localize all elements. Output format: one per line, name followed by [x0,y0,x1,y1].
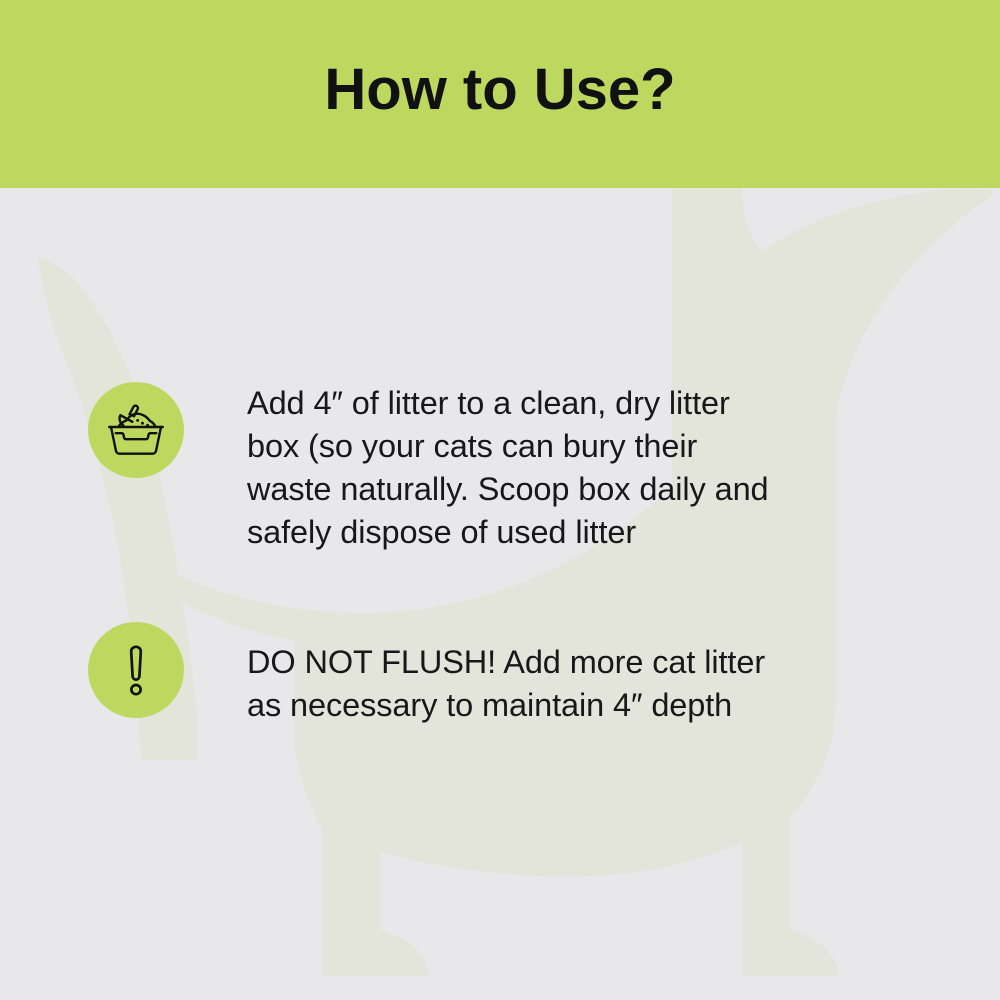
instruction-text: Add 4″ of litter to a clean, dry litter … [247,381,769,554]
exclamation-mark-icon-badge [88,622,184,718]
cat-torso-head-shape [150,186,992,976]
page-title: How to Use? [324,61,675,127]
instruction-text: DO NOT FLUSH! Add more cat litter as nec… [247,640,765,727]
instruction-row: Add 4″ of litter to a clean, dry litter … [88,382,769,554]
litter-box-scoop-icon-badge [88,382,184,478]
header-band: How to Use? [0,0,1000,188]
instruction-row: DO NOT FLUSH! Add more cat litter as nec… [88,622,765,727]
infographic-canvas: How to Use? [0,0,1000,1000]
litter-box-scoop-icon [103,397,169,463]
exclamation-mark-icon [107,641,165,699]
